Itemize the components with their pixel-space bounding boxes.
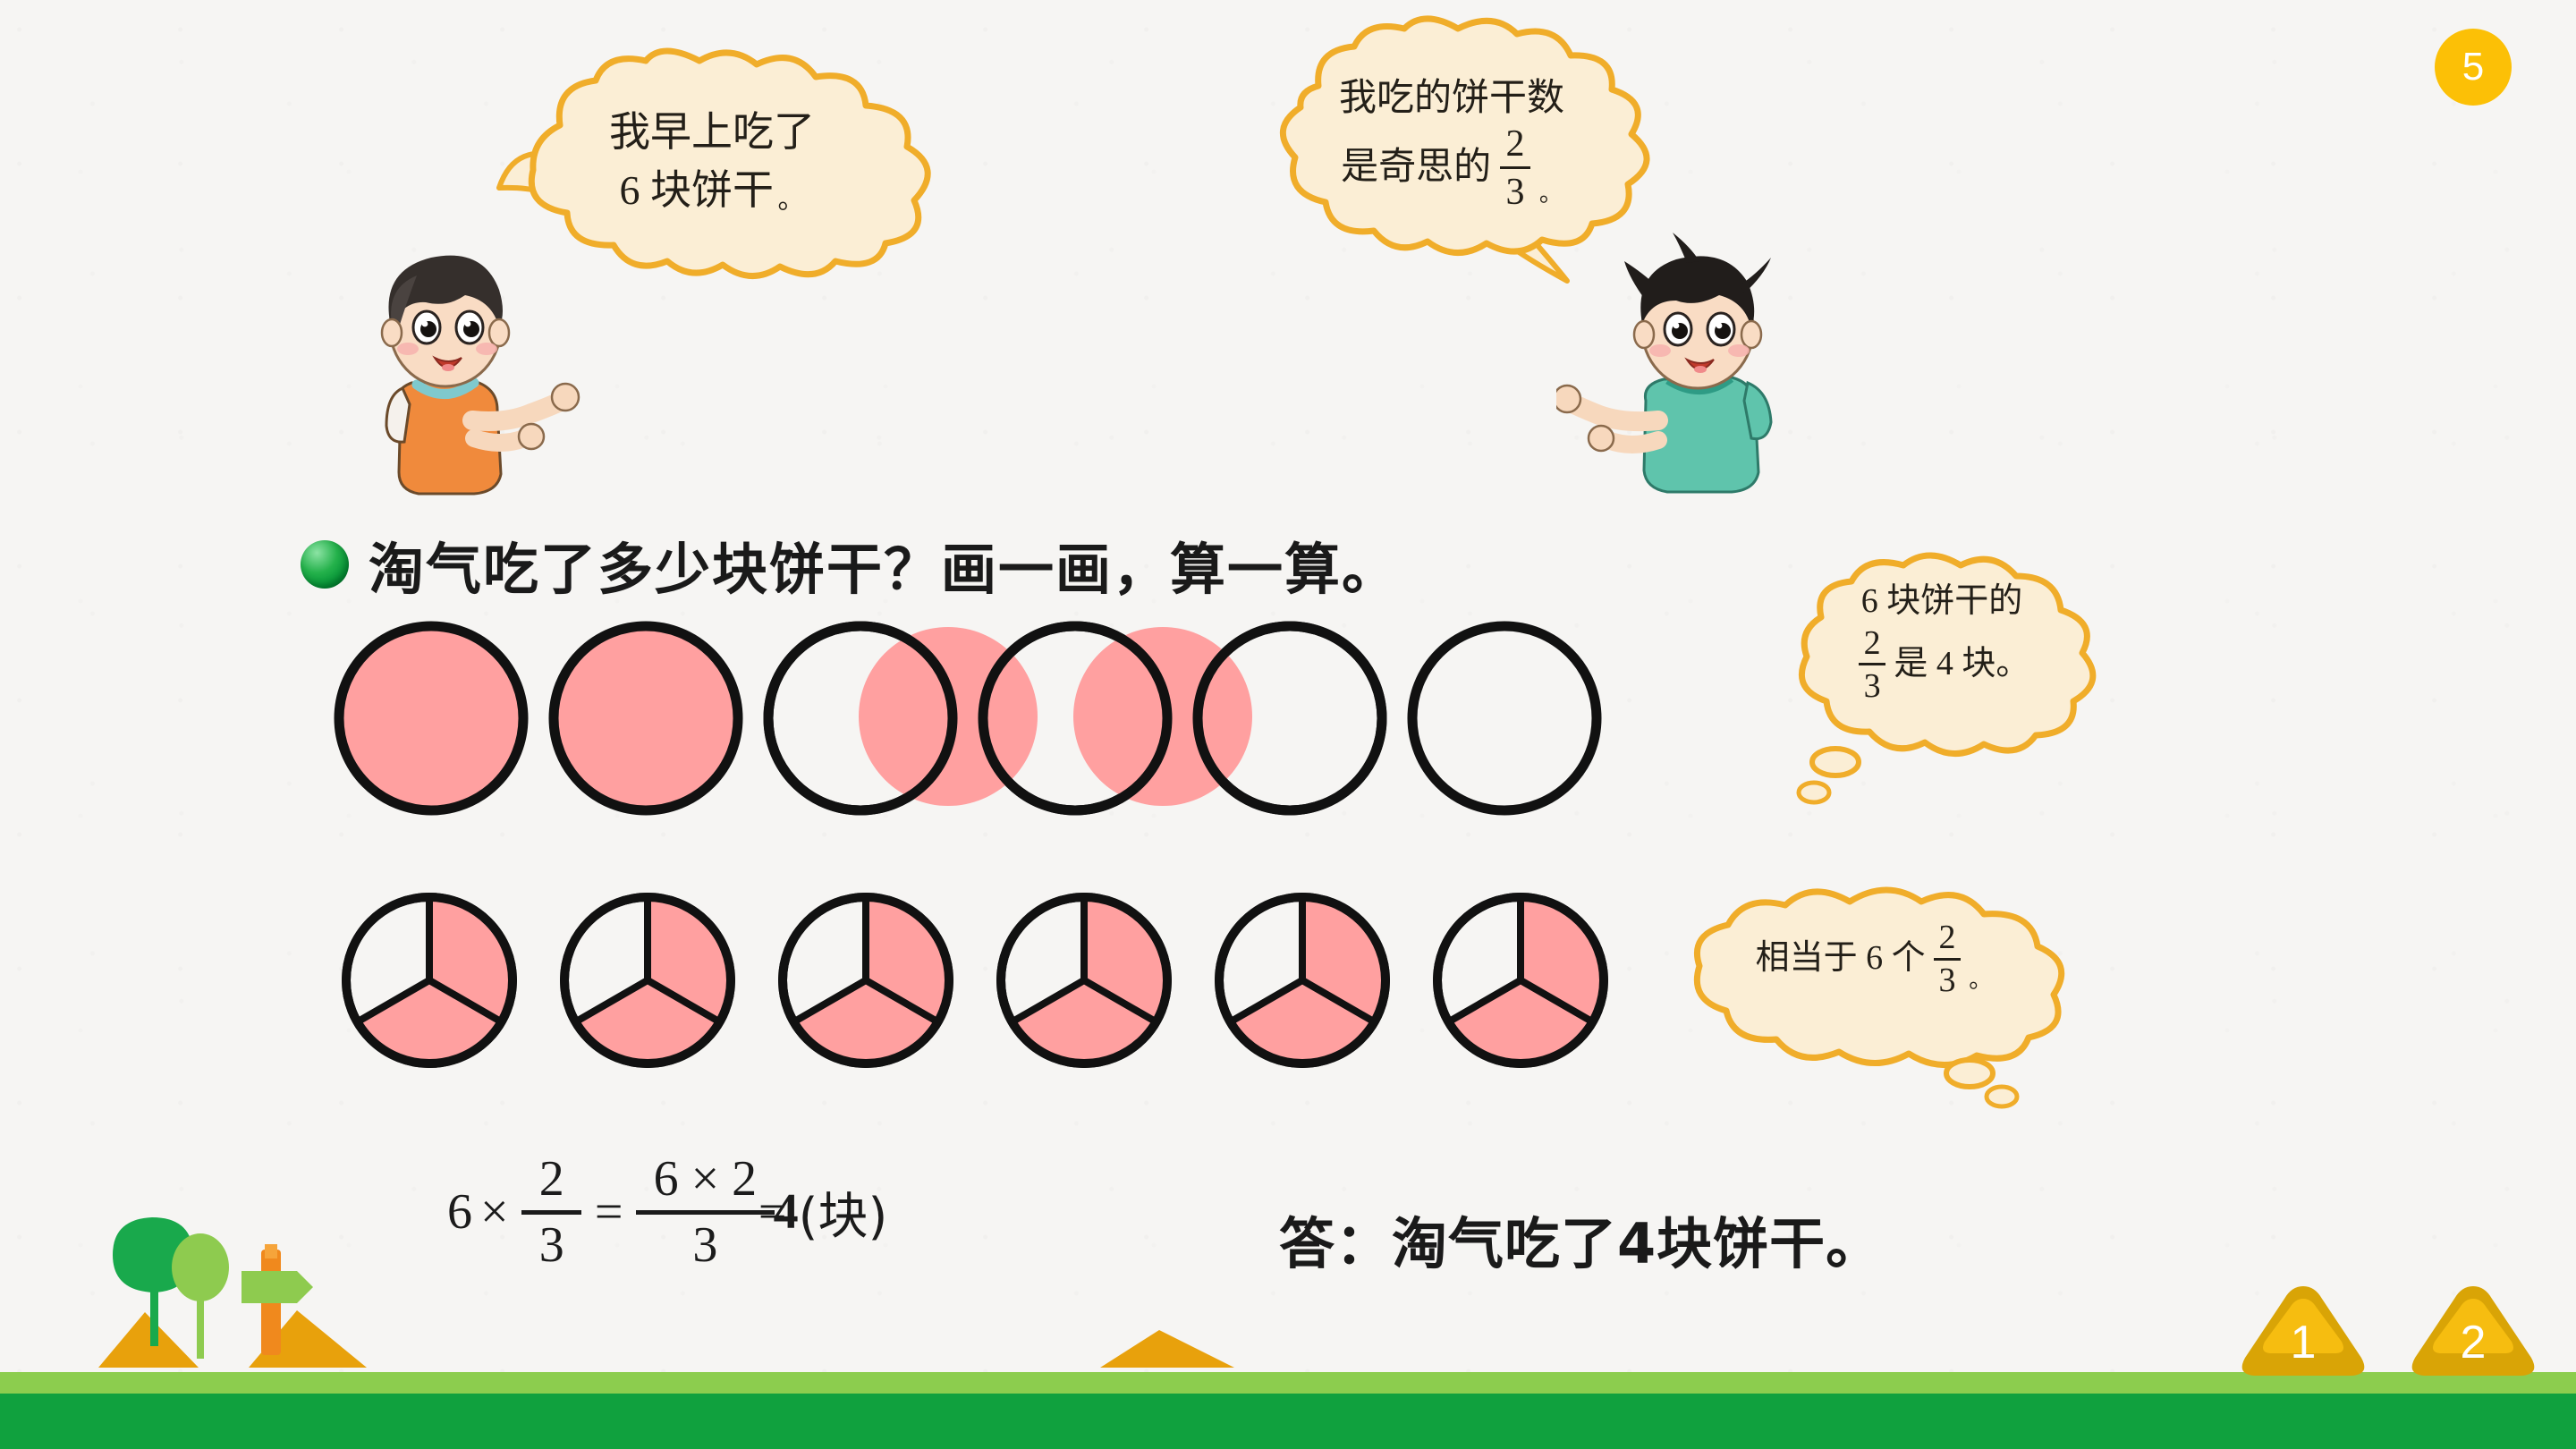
- equation-result-group: = 4: [774, 1183, 799, 1241]
- fraction-numerator: 2: [521, 1154, 581, 1204]
- equation-equals-1: =: [595, 1183, 623, 1241]
- answer-line: 答：淘气吃了4块饼干。: [1279, 1199, 1882, 1279]
- cookie-row-thirds-graphic: [338, 890, 1608, 1078]
- thirds-cookie-6: [1437, 897, 1604, 1063]
- thought-bubble-upper-right: 6 块饼干的 2 3 是 4 块。: [1767, 540, 2116, 764]
- character-taoqi: [1556, 231, 1816, 499]
- scenery-trees-and-sign: [98, 1207, 394, 1372]
- cookie-2: [554, 626, 738, 810]
- question-text: 淘气吃了多少块饼干？画一画，算一算。: [369, 524, 1399, 605]
- scenery-illustration: [98, 1207, 394, 1368]
- thought-upper-line1: 6 块饼干的: [1861, 578, 2023, 626]
- cookie-6: [1412, 626, 1597, 810]
- question-line: 淘气吃了多少块饼干？画一画，算一算。: [301, 524, 1399, 605]
- equation-unit: (块): [799, 1176, 888, 1249]
- sand-hill-center: [1100, 1328, 1306, 1372]
- equation-line: 6 × 2 3 = 6 × 2 3 = 4 (块): [447, 1154, 887, 1270]
- fraction-numerator: 2: [1936, 920, 1960, 954]
- thought-lower-fraction: 2 3: [1934, 920, 1961, 998]
- bubble-right-line1: 我吃的饼干数: [1339, 72, 1564, 126]
- thirds-cookie-1: [346, 897, 513, 1063]
- green-sphere-bullet-icon: [301, 540, 349, 589]
- tree-light-trunk: [197, 1292, 204, 1359]
- sand-hill-center-shape: [1100, 1328, 1306, 1368]
- fraction-bar: [1500, 166, 1530, 169]
- bubble-left-line2: 6 块饼干: [619, 161, 774, 219]
- fraction-denominator: 3: [521, 1220, 581, 1270]
- bubble-right-period: 。: [1539, 178, 1563, 211]
- ground-band-dark: [0, 1394, 2576, 1449]
- cookie-1: [339, 626, 523, 810]
- bubble-left-period: 。: [778, 182, 805, 220]
- thirds-cookie-3: [783, 897, 949, 1063]
- fraction-denominator: 3: [1502, 174, 1528, 211]
- equation-operand-a: 6: [447, 1183, 472, 1241]
- cookie-row-thirds: [338, 890, 1608, 1078]
- thought-upper-fraction: 2 3: [1859, 626, 1885, 704]
- equation-fraction-1: 2 3: [521, 1154, 581, 1270]
- thought-lower-line1: 相当于 6 个: [1756, 935, 1926, 983]
- signpost-cap: [265, 1244, 277, 1258]
- page-number-badge: 5: [2435, 29, 2512, 106]
- fraction-numerator: 2: [1860, 626, 1885, 660]
- bubble-right-fraction: 2 3: [1500, 125, 1530, 210]
- fraction-denominator: 3: [1860, 669, 1885, 703]
- fraction-denominator: 3: [675, 1220, 735, 1270]
- slide-canvas: 5 我早上吃了 6 块饼干 。 我吃的饼干数 是奇思的 2: [0, 0, 2576, 1449]
- signpost-arrow-icon: [241, 1271, 313, 1303]
- cookie-row-whole: [322, 615, 1628, 821]
- thought-bubble-lower-right: 相当于 6 个 2 3 。: [1664, 869, 2084, 1057]
- bubble-right-line2: 是奇思的: [1341, 141, 1491, 195]
- character-qisi: [340, 234, 590, 503]
- thirds-cookie-2: [564, 897, 731, 1063]
- tree-dark-trunk: [150, 1285, 158, 1346]
- cookie-row-whole-graphic: [322, 615, 1628, 821]
- fraction-bar: [1934, 958, 1961, 961]
- character-qisi-illustration: [340, 234, 590, 503]
- thought-upper-line2: 是 4 块。: [1894, 640, 2029, 689]
- nav-hill-1-label[interactable]: 1: [2236, 1283, 2370, 1379]
- fraction-numerator: 2: [1502, 125, 1528, 163]
- fraction-numerator: 6 × 2: [636, 1154, 775, 1204]
- thought-bubble-lower-text: 相当于 6 个 2 3 。: [1664, 869, 2084, 1048]
- thirds-cookie-4: [1001, 897, 1167, 1063]
- fraction-bar: [636, 1210, 775, 1215]
- tree-light-crown: [172, 1233, 229, 1301]
- thought-lower-period: 。: [1969, 964, 1992, 997]
- character-taoqi-illustration: [1556, 231, 1816, 499]
- bubble-left-line1: 我早上吃了: [609, 103, 815, 161]
- thought-bubble-upper-text: 6 块饼干的 2 3 是 4 块。: [1767, 540, 2116, 746]
- sand-hill-left: [98, 1312, 199, 1368]
- ground-band-light: [0, 1372, 2576, 1394]
- fraction-bar: [521, 1210, 581, 1215]
- nav-hill-2-label[interactable]: 2: [2406, 1283, 2540, 1379]
- equation-equals-2: =: [758, 1183, 787, 1241]
- nav-hill-2[interactable]: 2: [2406, 1283, 2540, 1379]
- equation-fraction-2: 6 × 2 3: [636, 1154, 775, 1270]
- nav-hill-1[interactable]: 1: [2236, 1283, 2370, 1379]
- page-number-label: 5: [2462, 47, 2484, 87]
- fraction-bar: [1859, 663, 1885, 665]
- thirds-cookie-5: [1219, 897, 1385, 1063]
- equation-times-sign: ×: [480, 1183, 509, 1241]
- fraction-denominator: 3: [1936, 963, 1960, 997]
